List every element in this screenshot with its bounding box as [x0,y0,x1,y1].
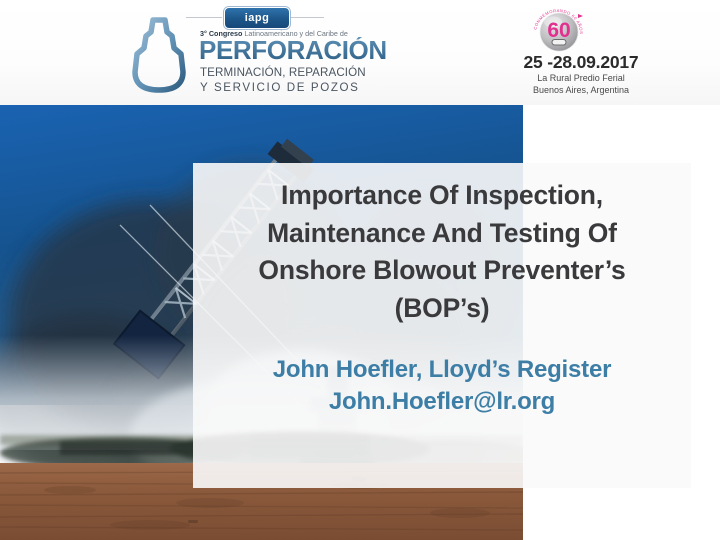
event-venue-line-2: Buenos Aires, Argentina [486,84,676,96]
anniversary-seal-icon: 60 CONMEMORANDO 60 AÑOS [528,2,590,54]
event-info-lockup: 60 CONMEMORANDO 60 AÑOS 25 -28.09.2017 L… [486,2,706,98]
logo-rule-left [186,17,222,18]
event-date: 25 -28.09.2017 [486,52,676,72]
presenter-byline: John Hoefler, Lloyd’s Register John.Hoef… [207,354,677,419]
title-line-2: Maintenance And Testing Of [207,215,677,253]
title-line-4: (BOP’s) [207,290,677,328]
event-venue: La Rural Predio Ferial Buenos Aires, Arg… [486,72,676,97]
slide-header-band: iapg 3° Congreso Latinoamericano y del C… [0,0,720,105]
presenter-email[interactable]: John.Hoefler@lr.org [207,386,677,418]
presenter-name-and-company: John Hoefler, Lloyd’s Register [207,354,677,386]
iapg-badge-label: iapg [245,13,270,24]
event-venue-line-1: La Rural Predio Ferial [486,72,676,84]
congress-subtitle-line-2: Y SERVICIO DE POZOS [200,82,359,94]
title-line-3: Onshore Blowout Preventer’s [207,252,677,290]
drilling-derrick-outline-icon [128,16,190,94]
svg-text:60: 60 [547,19,570,42]
congress-subtitle-line-1: TERMINACIÓN, REPARACIÓN [200,67,366,79]
congress-main-title: PERFORACIÓN [199,37,387,63]
title-line-1: Importance Of Inspection, [207,177,677,215]
logo-rule-right [290,17,324,18]
slide-title-panel: Importance Of Inspection, Maintenance An… [193,163,691,488]
iapg-badge: iapg [224,7,290,29]
page-title: Importance Of Inspection, Maintenance An… [207,177,677,328]
congress-logo-lockup: iapg 3° Congreso Latinoamericano y del C… [128,6,368,98]
